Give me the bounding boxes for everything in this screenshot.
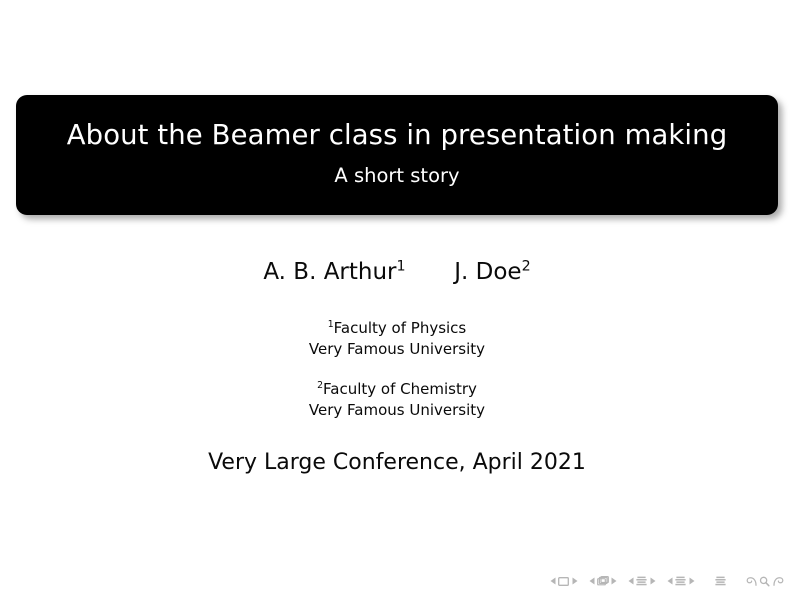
next-section-icon[interactable] (687, 574, 696, 588)
slide-icon[interactable] (557, 574, 570, 588)
next-frame-icon[interactable] (609, 574, 618, 588)
author-name: A. B. Arthur (263, 259, 396, 285)
title-block: About the Beamer class in presentation m… (16, 95, 778, 215)
author-name: J. Doe (454, 259, 521, 285)
presentation-icon[interactable] (714, 574, 727, 588)
previous-slide-icon[interactable] (548, 574, 557, 588)
affiliation-department: Faculty of Chemistry (323, 380, 477, 398)
affiliation-institution: Very Famous University (0, 339, 794, 360)
previous-section-icon[interactable] (665, 574, 674, 588)
affiliation-department-line: 1Faculty of Physics (0, 318, 794, 339)
beamer-navigation-symbols (548, 572, 784, 590)
section-navigation-group (665, 574, 696, 588)
next-subsection-icon[interactable] (648, 574, 657, 588)
author-entry: A. B. Arthur1 (263, 258, 405, 287)
section-icon[interactable] (674, 574, 687, 588)
author-entry: J. Doe2 (454, 258, 530, 287)
affiliation-department-line: 2Faculty of Chemistry (0, 379, 794, 400)
slide-navigation-group (548, 574, 579, 588)
author-list: A. B. Arthur1 J. Doe2 (0, 258, 794, 287)
title-block-wrapper: About the Beamer class in presentation m… (16, 95, 778, 215)
affiliation-institution: Very Famous University (0, 400, 794, 421)
utility-navigation-group (745, 574, 784, 588)
frame-navigation-group (587, 574, 618, 588)
go-forward-icon[interactable] (771, 574, 784, 588)
subsection-icon[interactable] (635, 574, 648, 588)
affiliation-department: Faculty of Physics (334, 319, 467, 337)
search-icon[interactable] (758, 574, 771, 588)
previous-frame-icon[interactable] (587, 574, 596, 588)
frame-icon[interactable] (596, 574, 609, 588)
go-back-icon[interactable] (745, 574, 758, 588)
subsection-navigation-group (626, 574, 657, 588)
beamer-title-slide: About the Beamer class in presentation m… (0, 0, 794, 596)
next-slide-icon[interactable] (570, 574, 579, 588)
affiliation-list: 1Faculty of Physics Very Famous Universi… (0, 318, 794, 421)
author-affiliation-marker: 1 (397, 258, 406, 274)
affiliation-entry: 2Faculty of Chemistry Very Famous Univer… (0, 379, 794, 422)
presentation-title: About the Beamer class in presentation m… (67, 119, 728, 151)
author-affiliation-marker: 2 (522, 258, 531, 274)
presentation-subtitle: A short story (334, 164, 459, 187)
affiliation-entry: 1Faculty of Physics Very Famous Universi… (0, 318, 794, 361)
previous-subsection-icon[interactable] (626, 574, 635, 588)
conference-date: Very Large Conference, April 2021 (0, 449, 794, 477)
presentation-group (714, 574, 727, 588)
